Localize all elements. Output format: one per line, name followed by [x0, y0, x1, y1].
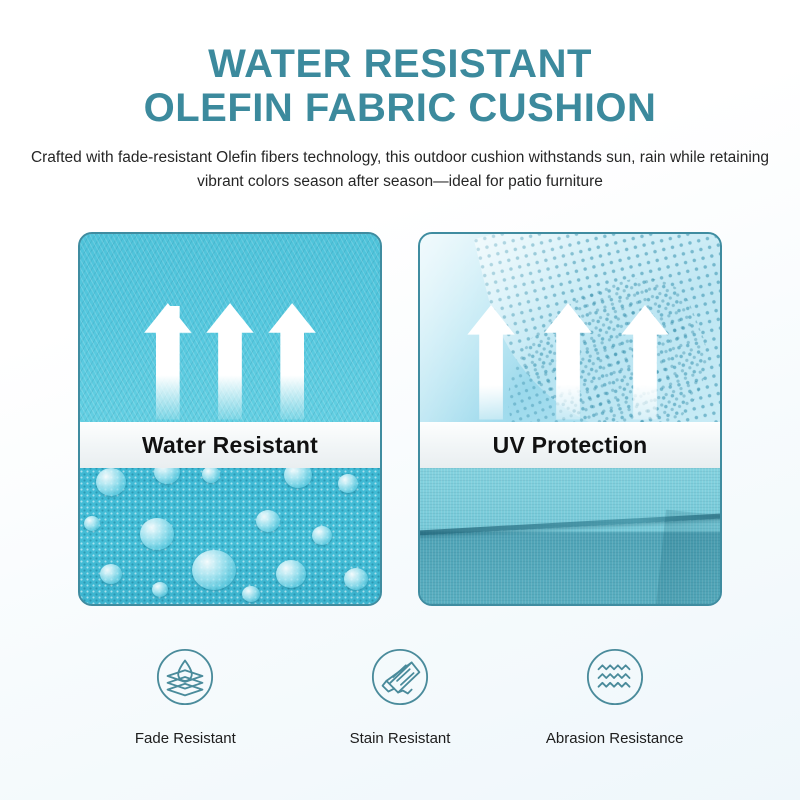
page-subtitle: Crafted with fade-resistant Olefin fiber…	[30, 146, 770, 194]
panel-label-uv: UV Protection	[493, 432, 648, 459]
feature-stain-resistant: Stain Resistant	[293, 646, 508, 776]
title-line-1: WATER RESISTANT	[208, 42, 592, 86]
title-line-2: OLEFIN FABRIC CUSHION	[0, 86, 800, 130]
feature-list: Fade Resistant Stain Resistant	[78, 646, 722, 776]
page-title: WATER RESISTANT OLEFIN FABRIC CUSHION	[0, 42, 800, 130]
feature-label-stain-resistant: Stain Resistant	[350, 730, 451, 747]
panel-uv-protection: UV Protection	[418, 232, 722, 606]
infographic-page: WATER RESISTANT OLEFIN FABRIC CUSHION Cr…	[0, 0, 800, 800]
panel-label-water: Water Resistant	[142, 432, 318, 459]
feature-label-fade-resistant: Fade Resistant	[135, 730, 236, 747]
upward-arrows-icon	[420, 234, 720, 603]
upward-arrows-icon	[80, 234, 380, 603]
hand-wipe-cloth-icon	[369, 646, 431, 708]
feature-panels: Water Resistant	[78, 232, 722, 606]
droplet-layers-icon	[154, 646, 216, 708]
feature-fade-resistant: Fade Resistant	[78, 646, 293, 776]
zigzag-waves-icon	[584, 646, 646, 708]
panel-water-resistant: Water Resistant	[78, 232, 382, 606]
feature-label-abrasion-resistance: Abrasion Resistance	[546, 730, 684, 747]
panel-label-band-water: Water Resistant	[80, 422, 380, 468]
panel-label-band-uv: UV Protection	[420, 422, 720, 468]
feature-abrasion-resistance: Abrasion Resistance	[507, 646, 722, 776]
